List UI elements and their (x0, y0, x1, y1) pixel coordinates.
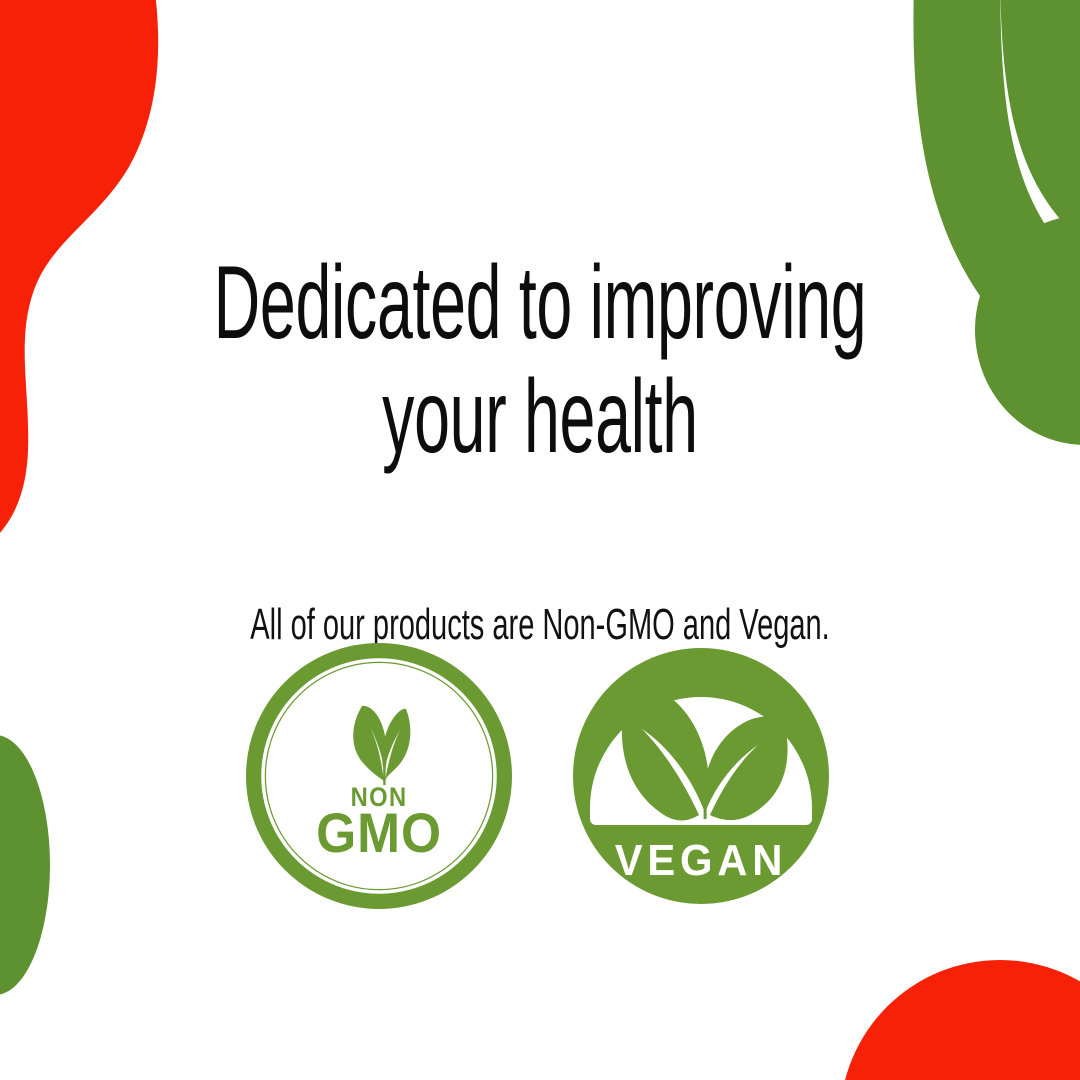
page-title: Dedicated to improving your health (205, 246, 875, 474)
badge-vegan: VEGAN (568, 643, 834, 909)
top-right-arc (913, 0, 1080, 410)
badge-non-gmo-line2: GMO (316, 802, 442, 864)
top-left-blob (0, 0, 158, 560)
bottom-right-blob (840, 960, 1080, 1080)
vegan-seal-icon: VEGAN (568, 643, 834, 909)
badge-vegan-label: VEGAN (615, 836, 787, 885)
badge-non-gmo: NON GMO (246, 643, 512, 909)
non-gmo-seal-icon: NON GMO (246, 643, 512, 909)
promo-canvas: Dedicated to improving your health All o… (0, 0, 1080, 1080)
right-upper-blob (975, 215, 1080, 445)
decorative-shapes-layer (0, 0, 1080, 1080)
certification-badges: NON GMO (0, 643, 1080, 909)
